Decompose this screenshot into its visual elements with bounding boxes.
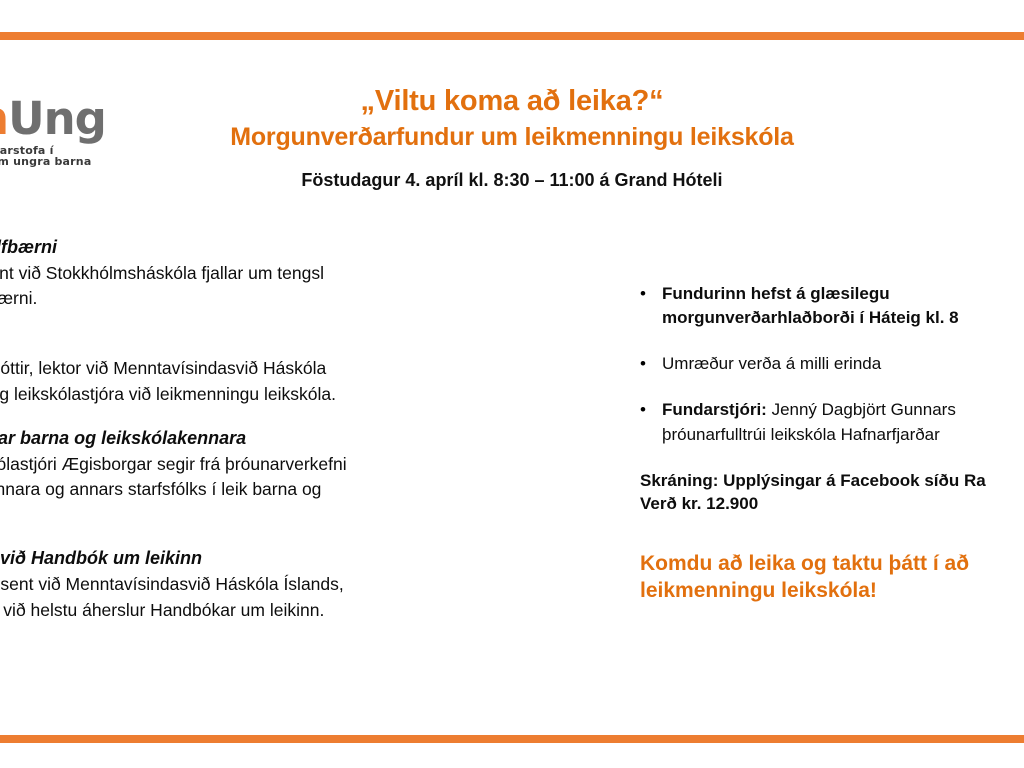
headline-block: „Viltu koma að leika?“ Morgunverðarfundu… (0, 84, 1024, 192)
page-title: „Viltu koma að leika?“ (0, 84, 1024, 118)
call-to-action: Komdu að leika og taktu þátt í að leikme… (640, 550, 1024, 605)
programme-item-line: Magnea Hreinsdóttir, lektor við Menntaví… (0, 356, 572, 381)
info-column: • Fundurinn hefst á glæsilegu morgunverð… (640, 282, 1024, 604)
programme-item-title: nlegir leikheimar barna og leikskólakenn… (0, 427, 572, 450)
price-line: Verð kr. 12.900 (640, 492, 1024, 515)
bottom-accent-rule (0, 735, 1024, 743)
programme-item: ning leikskóla Magnea Hreinsdóttir, lekt… (0, 331, 572, 406)
bullet-icon: • (640, 398, 662, 422)
programme-item-line: rt Lecusay, dósent við Stokkhólmsháskóla… (0, 261, 572, 286)
programme-item-line: töku leikskólakennara og annars starfsfó… (0, 477, 572, 502)
info-bullet: • Fundarstjóri: Jenný Dagbjört Gunnars þ… (640, 398, 1024, 446)
registration-info: Skráning: Upplýsingar á Facebook síðu Ra… (640, 469, 1024, 516)
programme-item-line: félagslega sjálfbærni. (0, 286, 572, 311)
programme-item-line: því tengdu. (0, 502, 572, 527)
info-bullet-line: þróunarfulltrúi leikskóla Hafnarfjarðar (662, 423, 1024, 447)
registration-line: Skráning: Upplýsingar á Facebook síðu Ra (640, 471, 986, 490)
programme-item-line: varsdóttir, leikskólastjóri Ægisborgar s… (0, 452, 572, 477)
info-bullet-line: Fundurinn hefst á glæsilegu (662, 284, 890, 303)
programme-column: g félagsleg sjálfbærni rt Lecusay, dósen… (0, 236, 572, 623)
call-to-action-line: Komdu að leika og taktu þátt í að (640, 552, 969, 575)
info-bullet-line: morgunverðarhlaðborði í Háteig kl. 8 (662, 306, 1024, 330)
slide-canvas: nnUng annsóknarstofa í arfræðum ungra ba… (0, 0, 1024, 768)
programme-item-title: g félagsleg sjálfbærni (0, 236, 572, 259)
info-bullet-lead: Fundarstjóri: (662, 400, 767, 419)
event-datetime: Föstudagur 4. apríl kl. 8:30 – 11:00 á G… (0, 170, 1024, 192)
programme-item-line: a Björg Mörk, dósent við Menntavísindasv… (0, 572, 572, 597)
programme-item: ekt og tenging við Handbók um leikinn a … (0, 547, 572, 622)
info-bullet-text: Fundurinn hefst á glæsilegu morgunverðar… (662, 282, 1024, 330)
info-bullet-text: Fundarstjóri: Jenný Dagbjört Gunnars þró… (662, 398, 1024, 446)
programme-item-title: ekt og tenging við Handbók um leikinn (0, 547, 572, 570)
programme-item-title: ning leikskóla (0, 331, 572, 354)
programme-item-line: jallar um stuðning leikskólastjóra við l… (0, 382, 572, 407)
info-bullet: • Fundurinn hefst á glæsilegu morgunverð… (640, 282, 1024, 330)
info-bullet-line: Jenný Dagbjört Gunnars (767, 400, 956, 419)
info-bullet: • Umræður verða á milli erinda (640, 352, 1024, 376)
bullet-icon: • (640, 282, 662, 306)
programme-item: g félagsleg sjálfbærni rt Lecusay, dósen… (0, 236, 572, 311)
programme-item-line: mræður dagsins við helstu áherslur Handb… (0, 598, 572, 623)
info-bullet-text: Umræður verða á milli erinda (662, 352, 1024, 376)
page-subtitle: Morgunverðarfundur um leikmenningu leiks… (0, 122, 1024, 152)
programme-item: nlegir leikheimar barna og leikskólakenn… (0, 427, 572, 528)
info-bullet-line: Umræður verða á milli erinda (662, 354, 881, 373)
bullet-icon: • (640, 352, 662, 376)
call-to-action-line: leikmenningu leikskóla! (640, 577, 1024, 604)
top-accent-rule (0, 32, 1024, 40)
